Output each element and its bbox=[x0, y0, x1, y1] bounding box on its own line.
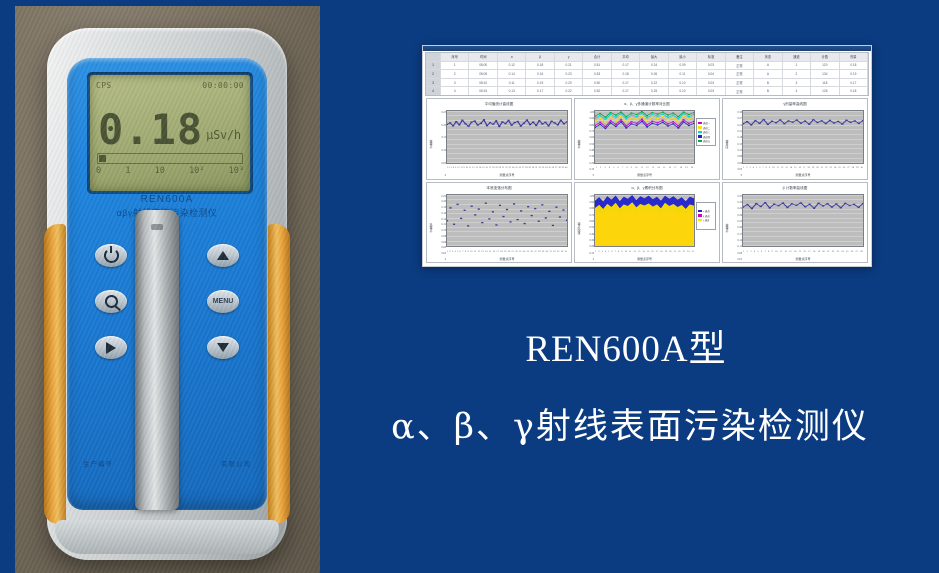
table-cell: 1 bbox=[441, 62, 469, 70]
chart-y-tick: 0.70 bbox=[582, 214, 594, 217]
table-header-cell: α bbox=[498, 53, 526, 61]
device-bottom-cap bbox=[55, 520, 279, 554]
chart-x-tick: 8 bbox=[626, 166, 627, 169]
chart-x-tick: 22 bbox=[505, 166, 507, 169]
power-icon bbox=[104, 248, 119, 263]
chart-x-tick: 25 bbox=[527, 250, 529, 253]
chart-y-tick: 0.22 bbox=[434, 195, 446, 198]
chart-plot-area bbox=[742, 110, 864, 164]
chart-x-tick: 9 bbox=[467, 250, 468, 253]
table-cell: 4 bbox=[441, 87, 469, 95]
chart-x-tick: 7 bbox=[615, 250, 616, 253]
chart-plot-area bbox=[594, 110, 695, 164]
chart-y-tick: 0.20 bbox=[434, 200, 446, 203]
chart-x-tick: 16 bbox=[799, 166, 801, 169]
chart-y-tick: 0.20 bbox=[730, 226, 742, 229]
chart-x-tick: 20 bbox=[499, 166, 501, 169]
table-cell: 0.11 bbox=[498, 79, 526, 87]
chart-legend-label: 通道五 bbox=[703, 139, 710, 143]
table-cell: 0.20 bbox=[555, 79, 583, 87]
chart-y-tick: 0 bbox=[730, 174, 742, 177]
chart-y-tick: 0.05 bbox=[730, 258, 742, 261]
chart-legend-label: 通道一 bbox=[703, 121, 710, 125]
chart-x-tick: 19 bbox=[685, 166, 687, 169]
table-cell: 126 bbox=[811, 87, 839, 95]
chart-x-tick: 26 bbox=[530, 250, 532, 253]
chart-x-tick: 27 bbox=[856, 250, 858, 253]
table-row-header bbox=[426, 53, 441, 61]
chart-x-tick: 29 bbox=[856, 166, 858, 169]
chart-x-tick: 15 bbox=[794, 166, 796, 169]
table-row-header: 4 bbox=[426, 87, 441, 95]
chart-x-tick: 32 bbox=[538, 166, 540, 169]
table-cell: 0.16 bbox=[526, 70, 554, 78]
chart-y-tick: 0.10 bbox=[434, 149, 446, 152]
chart-x-tick: 7 bbox=[459, 166, 460, 169]
chart-x-tick: 3 bbox=[602, 250, 603, 253]
table-header-cell: γ bbox=[555, 53, 583, 61]
chart-y-tick: 0.32 bbox=[730, 201, 742, 204]
chart-x-tick: 32 bbox=[553, 250, 555, 253]
chart-x-tick: 12 bbox=[478, 250, 480, 253]
data-table: 序号时间αβγ合计平均最大最小标准备注状态通道计数剂量1108:000.120.… bbox=[425, 52, 869, 96]
chart-legend-label: β 通道 bbox=[703, 214, 710, 218]
chart-y-tick: 0.14 bbox=[434, 218, 446, 221]
chart-x-tick: 1 bbox=[447, 250, 448, 253]
play-button[interactable] bbox=[95, 336, 127, 359]
lcd-screen: CPS 00:00:00 0.18 μSv/h 0 1 10 10² bbox=[90, 75, 250, 191]
chart-x-tick: 23 bbox=[830, 166, 832, 169]
table-header-cell: 最大 bbox=[640, 53, 668, 61]
table-row: 序号时间αβγ合计平均最大最小标准备注状态通道计数剂量 bbox=[426, 53, 868, 62]
chart-x-tick: 20 bbox=[822, 250, 824, 253]
table-cell: 0.26 bbox=[640, 70, 668, 78]
chart-card: 本底涨落分布图计数值0.220.200.180.160.140.120.100.… bbox=[426, 182, 572, 264]
chart-x-tick: 37 bbox=[555, 166, 557, 169]
chart-y-tick: 0.11 bbox=[730, 245, 742, 248]
table-cell: 0.22 bbox=[640, 79, 668, 87]
menu-button-label: MENU bbox=[213, 298, 234, 305]
chart-body: 累积计数1.000.900.800.700.600.500.400.300.20… bbox=[575, 194, 719, 263]
table-row: 4408:150.130.170.220.520.170.250.100.03正… bbox=[426, 87, 868, 95]
chart-x-tick: 11 bbox=[780, 250, 782, 253]
chart-x-tick: 4 bbox=[454, 250, 455, 253]
chart-y-tick: 0.08 bbox=[730, 252, 742, 255]
table-cell: 0.04 bbox=[697, 70, 725, 78]
lcd-scale: 0 1 10 10² 10³ bbox=[96, 164, 244, 178]
chart-x-tick: 25 bbox=[838, 166, 840, 169]
chart-plot-area bbox=[742, 194, 864, 248]
chart-y-tick: 0.50 bbox=[582, 143, 594, 146]
lcd-bezel: CPS 00:00:00 0.18 μSv/h 0 1 10 10² bbox=[87, 72, 253, 194]
chart-x-tick: 15 bbox=[799, 250, 801, 253]
lcd-scale-tick: 0 bbox=[96, 166, 101, 176]
table-cell: 0.21 bbox=[555, 62, 583, 70]
chart-x-tick: 14 bbox=[479, 166, 481, 169]
chart-x-tick: 24 bbox=[841, 250, 843, 253]
chart-x-tick: 20 bbox=[691, 166, 693, 169]
table-cell: 正常 bbox=[726, 62, 754, 70]
chart-body: 计数率0.250.200.150.100.0501234567891011121… bbox=[427, 110, 571, 179]
chart-x-tick: 35 bbox=[564, 250, 566, 253]
lcd-unit: μSv/h bbox=[206, 128, 241, 149]
chart-plot-area bbox=[594, 194, 695, 248]
chart-x-tick: 10 bbox=[772, 166, 774, 169]
chart-x-tick: 15 bbox=[489, 250, 491, 253]
chart-x-tick: 21 bbox=[821, 166, 823, 169]
chart-x-tick: 3 bbox=[451, 166, 452, 169]
chart-x-tick: 5 bbox=[455, 166, 456, 169]
chart-x-tick: 4 bbox=[605, 250, 606, 253]
chart-y-tick: 0.70 bbox=[582, 130, 594, 133]
device-footer-left: 生产编号 bbox=[83, 458, 113, 468]
chart-y-tick: 0.40 bbox=[582, 233, 594, 236]
chart-y-tick: 0.06 bbox=[434, 241, 446, 244]
chart-x-ticks: 1234567891011121314151617181920212223242… bbox=[446, 164, 568, 172]
chart-y-tick: 0.23 bbox=[730, 220, 742, 223]
chart-y-tick: 0.60 bbox=[582, 220, 594, 223]
chart-y-tick: 0.20 bbox=[434, 124, 446, 127]
table-cell: 0.17 bbox=[612, 62, 640, 70]
chart-title: β 计数率曲线图 bbox=[723, 183, 867, 194]
table-cell: 2 bbox=[441, 70, 469, 78]
software-screenshot: 序号时间αβγ合计平均最大最小标准备注状态通道计数剂量1108:000.120.… bbox=[422, 45, 872, 267]
chart-x-tick: 21 bbox=[827, 250, 829, 253]
chart-y-ticks: 0.250.200.150.100.050 bbox=[434, 110, 446, 179]
chart-legend-label: α 通道 bbox=[703, 209, 710, 213]
chart-x-tick: 17 bbox=[489, 166, 491, 169]
table-cell: B bbox=[754, 79, 782, 87]
chart-x-tick: 17 bbox=[496, 250, 498, 253]
chart-x-axis-label: 测量点序号 bbox=[742, 172, 864, 179]
table-cell: 正常 bbox=[726, 70, 754, 78]
play-icon bbox=[106, 342, 116, 354]
chart-x-tick: 2 bbox=[600, 166, 601, 169]
chart-x-tick: 19 bbox=[504, 250, 506, 253]
chart-y-tick: 0.60 bbox=[582, 136, 594, 139]
chart-x-tick: 18 bbox=[500, 250, 502, 253]
table-cell: 118 bbox=[811, 79, 839, 87]
chart-x-tick: 4 bbox=[453, 166, 454, 169]
table-cell: 0.17 bbox=[526, 87, 554, 95]
chart-x-tick: 8 bbox=[768, 250, 769, 253]
table-cell: 0.19 bbox=[526, 79, 554, 87]
chart-x-tick: 5 bbox=[457, 250, 458, 253]
chart-x-tick: 1 bbox=[743, 250, 744, 253]
chart-y-tick: 0.25 bbox=[434, 111, 446, 114]
chart-x-tick: 25 bbox=[692, 250, 694, 253]
chart-card: α、β、γ多通道计数率对比图计数率1.000.900.800.700.600.5… bbox=[574, 98, 720, 180]
chart-x-tick: 12 bbox=[472, 166, 474, 169]
chart-y-tick: 0.24 bbox=[730, 124, 742, 127]
device-center-strip bbox=[135, 210, 179, 510]
chart-x-tick: 30 bbox=[860, 166, 862, 169]
table-cell: 正常 bbox=[726, 87, 754, 95]
chart-x-tick: 26 bbox=[519, 166, 521, 169]
chart-y-tick: 0.08 bbox=[434, 235, 446, 238]
table-header-cell: 标准 bbox=[697, 53, 725, 61]
chart-y-tick: 0.80 bbox=[582, 124, 594, 127]
power-button[interactable] bbox=[95, 244, 127, 267]
chart-x-tick: 5 bbox=[757, 250, 758, 253]
chart-x-tick: 2 bbox=[449, 166, 450, 169]
chart-y-tick: 0.30 bbox=[730, 111, 742, 114]
table-cell: 3 bbox=[441, 79, 469, 87]
table-cell: 0.50 bbox=[583, 79, 611, 87]
chart-x-tick: 35 bbox=[548, 166, 550, 169]
table-cell: 134 bbox=[811, 70, 839, 78]
chart-plot-area bbox=[446, 110, 568, 164]
chart-x-tick: 21 bbox=[502, 166, 504, 169]
software-titlebar bbox=[423, 46, 871, 51]
chart-y-tick: 0.27 bbox=[730, 117, 742, 120]
table-cell: 4 bbox=[783, 87, 811, 95]
down-button[interactable] bbox=[207, 336, 239, 359]
table-cell: 0.11 bbox=[669, 70, 697, 78]
chart-x-tick: 14 bbox=[790, 166, 792, 169]
search-button[interactable] bbox=[95, 290, 127, 313]
chart-x-tick: 17 bbox=[674, 166, 676, 169]
chart-x-tick: 1 bbox=[595, 250, 596, 253]
chart-y-tick: 0.15 bbox=[730, 143, 742, 146]
chart-legend: 通道一通道二通道三通道四通道五 bbox=[696, 118, 716, 146]
table-cell: 0.10 bbox=[669, 87, 697, 95]
table-header-cell: β bbox=[526, 53, 554, 61]
chart-y-ticks: 0.300.270.240.210.180.150.120.090.060.03… bbox=[730, 110, 742, 179]
chart-legend-label: γ 通道 bbox=[703, 218, 709, 222]
chart-y-tick: 0 bbox=[582, 258, 594, 261]
search-icon bbox=[105, 295, 118, 308]
table-row: 1108:000.120.180.210.510.170.240.090.03正… bbox=[426, 62, 868, 71]
chart-y-tick: 0.20 bbox=[582, 162, 594, 165]
chart-x-tick: 23 bbox=[837, 250, 839, 253]
chart-y-ticks: 0.350.320.290.260.230.200.170.140.110.08… bbox=[730, 194, 742, 263]
chart-x-tick: 6 bbox=[460, 250, 461, 253]
chart-x-tick: 14 bbox=[794, 250, 796, 253]
chart-y-tick: 0.18 bbox=[730, 136, 742, 139]
chart-x-tick: 16 bbox=[669, 166, 671, 169]
chart-y-tick: 0.18 bbox=[434, 206, 446, 209]
chart-x-tick: 6 bbox=[759, 166, 760, 169]
chart-y-ticks: 1.000.900.800.700.600.500.400.300.200.10… bbox=[582, 194, 594, 263]
chart-x-tick: 6 bbox=[618, 166, 619, 169]
chart-x-tick: 36 bbox=[552, 166, 554, 169]
device-grip-left bbox=[44, 224, 66, 524]
chart-x-tick: 22 bbox=[678, 250, 680, 253]
chart-x-tick: 23 bbox=[519, 250, 521, 253]
chart-legend-item: 通道五 bbox=[698, 139, 714, 143]
chart-x-tick: 7 bbox=[764, 250, 765, 253]
table-header-cell: 序号 bbox=[441, 53, 469, 61]
chart-card: α、β、γ累积分布图累积计数1.000.900.800.700.600.500.… bbox=[574, 182, 720, 264]
lcd-bargraph bbox=[97, 153, 243, 164]
chart-legend-label: 通道二 bbox=[703, 126, 710, 130]
chart-x-tick: 11 bbox=[777, 166, 779, 169]
chart-x-tick: 9 bbox=[769, 166, 770, 169]
chart-x-tick: 10 bbox=[466, 166, 468, 169]
chart-y-tick: 0.35 bbox=[730, 195, 742, 198]
chart-y-tick: 0 bbox=[582, 174, 594, 177]
menu-button[interactable]: MENU bbox=[207, 290, 239, 313]
chart-x-tick: 18 bbox=[680, 166, 682, 169]
chart-title: γ剂量率曲线图 bbox=[723, 99, 867, 110]
chart-x-tick: 5 bbox=[608, 250, 609, 253]
table-cell: A bbox=[754, 62, 782, 70]
chart-legend-swatch bbox=[698, 126, 702, 129]
table-cell: 0.18 bbox=[526, 62, 554, 70]
table-header-cell: 状态 bbox=[754, 53, 782, 61]
chart-x-tick: 13 bbox=[785, 166, 787, 169]
chart-x-tick: 18 bbox=[492, 166, 494, 169]
chart-body: 剂量率0.300.270.240.210.180.150.120.090.060… bbox=[723, 110, 867, 179]
chart-x-tick: 2 bbox=[746, 166, 747, 169]
chart-x-tick: 8 bbox=[465, 250, 466, 253]
chart-x-tick: 8 bbox=[766, 166, 767, 169]
chart-y-tick: 0.10 bbox=[434, 229, 446, 232]
chart-legend-swatch bbox=[698, 140, 702, 143]
chart-x-tick: 29 bbox=[542, 250, 544, 253]
chart-x-tick: 21 bbox=[512, 250, 514, 253]
chart-x-tick: 6 bbox=[611, 250, 612, 253]
table-header-cell: 计数 bbox=[811, 53, 839, 61]
chart-y-tick: 0.10 bbox=[582, 252, 594, 255]
device-grip-right bbox=[268, 224, 290, 524]
chart-x-tick: 6 bbox=[457, 166, 458, 169]
chart-x-ticks: 1234567891011121314151617181920212223242… bbox=[446, 247, 568, 255]
table-cell: 2 bbox=[783, 70, 811, 78]
lcd-status-right: 00:00:00 bbox=[202, 81, 244, 90]
chart-x-tick: 1 bbox=[743, 166, 744, 169]
chart-x-tick: 1 bbox=[446, 166, 447, 169]
chart-x-tick: 24 bbox=[523, 250, 525, 253]
chart-x-tick: 24 bbox=[834, 166, 836, 169]
chart-card: 平均值统计曲线图计数率0.250.200.150.100.05012345678… bbox=[426, 98, 572, 180]
chart-card: β 计数率曲线图计数率0.350.320.290.260.230.200.170… bbox=[722, 182, 868, 264]
chart-x-tick: 9 bbox=[463, 166, 464, 169]
chart-x-tick: 23 bbox=[509, 166, 511, 169]
chart-x-tick: 17 bbox=[803, 166, 805, 169]
chart-x-tick: 34 bbox=[561, 250, 563, 253]
chart-x-tick: 18 bbox=[660, 250, 662, 253]
table-cell: 0.03 bbox=[697, 79, 725, 87]
chart-y-tick: 0.15 bbox=[434, 136, 446, 139]
chart-x-tick: 19 bbox=[812, 166, 814, 169]
chart-x-tick: 7 bbox=[462, 250, 463, 253]
chart-x-tick: 5 bbox=[613, 166, 614, 169]
chart-y-tick: 0.17 bbox=[730, 233, 742, 236]
chart-x-tick: 12 bbox=[633, 250, 635, 253]
chart-y-tick: 0.90 bbox=[582, 201, 594, 204]
table-row: 3308:100.110.190.200.500.170.220.100.03正… bbox=[426, 79, 868, 88]
chart-legend-item: 通道三 bbox=[698, 130, 714, 134]
chart-x-tick: 17 bbox=[656, 250, 658, 253]
chart-x-tick: 12 bbox=[646, 166, 648, 169]
chart-x-tick: 10 bbox=[470, 250, 472, 253]
chart-legend-label: 通道四 bbox=[703, 135, 710, 139]
chart-x-tick: 10 bbox=[635, 166, 637, 169]
chart-x-tick: 9 bbox=[621, 250, 622, 253]
chart-y-tick: 0.30 bbox=[582, 239, 594, 242]
table-cell: 08:00 bbox=[469, 62, 497, 70]
chart-x-tick: 12 bbox=[784, 250, 786, 253]
chart-x-tick: 38 bbox=[558, 166, 560, 169]
chart-x-tick: 16 bbox=[485, 166, 487, 169]
chart-x-tick: 14 bbox=[657, 166, 659, 169]
slide-titles: REN600A型 α、β、γ射线表面污染检测仪 bbox=[330, 318, 930, 449]
chart-grid: 平均值统计曲线图计数率0.250.200.150.100.05012345678… bbox=[426, 98, 868, 263]
chart-x-ticks: 1234567891011121314151617181920212223242… bbox=[742, 164, 864, 172]
chart-x-tick: 17 bbox=[808, 250, 810, 253]
chart-y-tick: 0 bbox=[434, 174, 446, 177]
table-cell: 0.51 bbox=[583, 62, 611, 70]
chart-x-tick: 3 bbox=[749, 166, 750, 169]
chart-y-tick: 0.40 bbox=[582, 149, 594, 152]
chart-x-tick: 31 bbox=[535, 166, 537, 169]
chart-x-tick: 31 bbox=[549, 250, 551, 253]
chart-x-tick: 8 bbox=[461, 166, 462, 169]
chart-x-tick: 40 bbox=[565, 166, 567, 169]
chart-x-tick: 23 bbox=[683, 250, 685, 253]
up-button[interactable] bbox=[207, 244, 239, 267]
chart-y-tick: 0.05 bbox=[434, 162, 446, 165]
chart-x-tick: 15 bbox=[482, 166, 484, 169]
chart-x-tick: 26 bbox=[851, 250, 853, 253]
chevron-up-icon bbox=[217, 251, 229, 260]
table-cell: 0.12 bbox=[498, 62, 526, 70]
chart-x-tick: 28 bbox=[538, 250, 540, 253]
table-cell: 0.24 bbox=[640, 62, 668, 70]
chart-y-tick: 0.02 bbox=[434, 252, 446, 255]
chart-x-tick: 13 bbox=[638, 250, 640, 253]
chart-x-tick: 33 bbox=[557, 250, 559, 253]
table-cell: 0.13 bbox=[498, 87, 526, 95]
chart-x-tick: 3 bbox=[750, 250, 751, 253]
chart-x-tick: 16 bbox=[803, 250, 805, 253]
chart-x-tick: 12 bbox=[781, 166, 783, 169]
device-footer-right: 有限公司 bbox=[221, 458, 251, 468]
chart-y-tick: 0.29 bbox=[730, 207, 742, 210]
chart-x-tick: 16 bbox=[651, 250, 653, 253]
table-cell: 0.22 bbox=[555, 87, 583, 95]
chart-x-tick: 20 bbox=[669, 250, 671, 253]
chart-legend-swatch bbox=[698, 210, 702, 213]
chart-x-tick: 24 bbox=[512, 166, 514, 169]
chart-body: 计数值0.220.200.180.160.140.120.100.080.060… bbox=[427, 194, 571, 263]
chart-x-tick: 25 bbox=[846, 250, 848, 253]
chart-body: 计数率0.350.320.290.260.230.200.170.140.110… bbox=[723, 194, 867, 263]
chart-x-tick: 11 bbox=[474, 250, 476, 253]
chart-y-tick: 0.09 bbox=[730, 155, 742, 158]
chart-legend-swatch bbox=[698, 219, 702, 222]
table-cell: 0.17 bbox=[840, 79, 868, 87]
chart-y-tick: 0.04 bbox=[434, 246, 446, 249]
lcd-status-left: CPS bbox=[96, 81, 112, 90]
chart-x-tick: 27 bbox=[847, 166, 849, 169]
chart-title: α、β、γ多通道计数率对比图 bbox=[575, 99, 719, 110]
chart-x-tick: 4 bbox=[754, 250, 755, 253]
table-cell: 0.18 bbox=[840, 62, 868, 70]
chart-x-tick: 2 bbox=[747, 250, 748, 253]
chart-x-axis-label: 测量点序号 bbox=[742, 255, 864, 262]
chart-x-tick: 30 bbox=[546, 250, 548, 253]
chart-x-tick: 20 bbox=[816, 166, 818, 169]
chart-x-tick: 14 bbox=[485, 250, 487, 253]
chart-x-tick: 9 bbox=[631, 166, 632, 169]
chart-x-axis-label: 测量点序号 bbox=[446, 255, 568, 262]
chart-x-tick: 24 bbox=[687, 250, 689, 253]
table-cell: 0.23 bbox=[555, 70, 583, 78]
chart-x-tick: 14 bbox=[642, 250, 644, 253]
